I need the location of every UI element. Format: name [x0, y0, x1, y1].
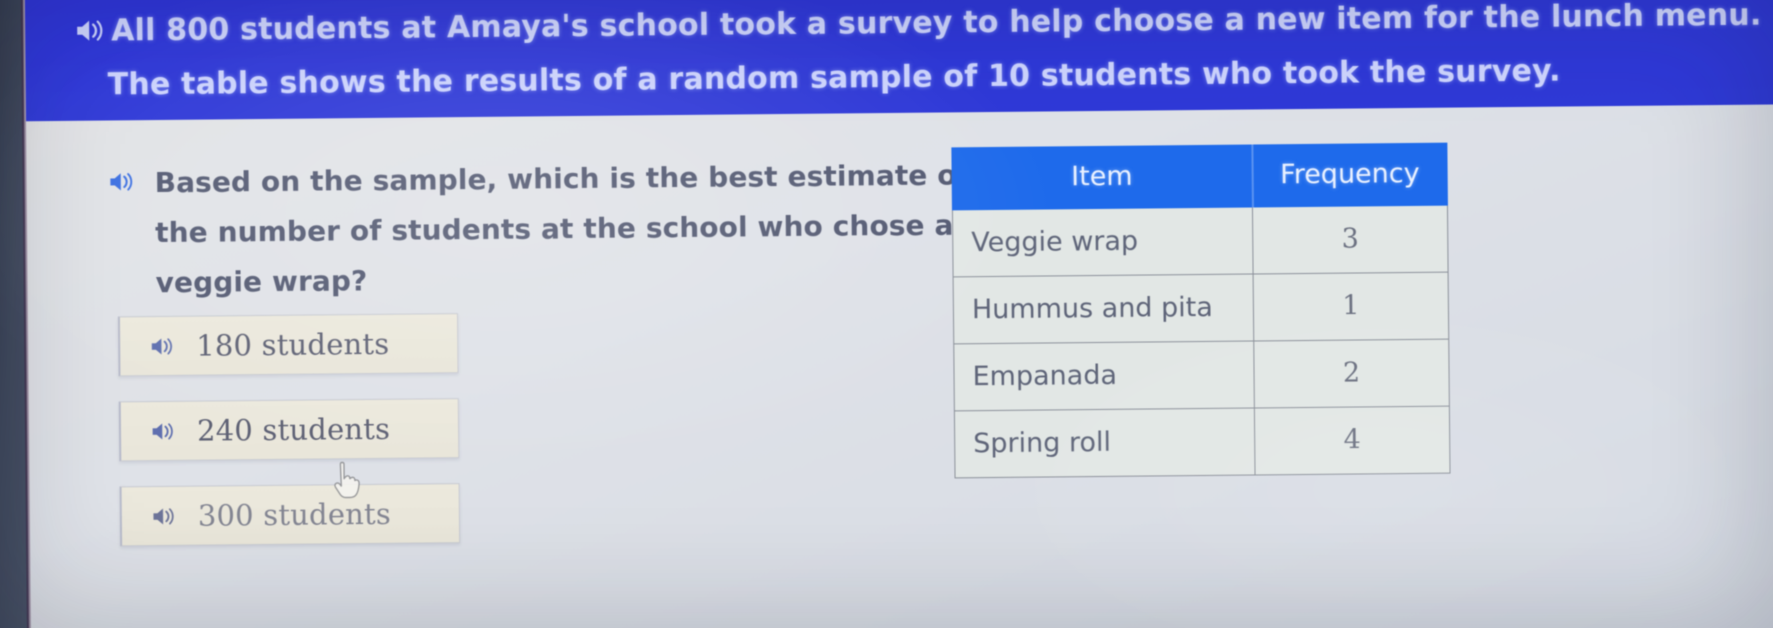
table-row: Spring roll 4 — [954, 406, 1450, 478]
table-cell-item: Empanada — [954, 341, 1255, 411]
question-block: Based on the sample, which is the best e… — [70, 151, 930, 159]
prompt-banner: All 800 students at Amaya's school took … — [25, 0, 1773, 121]
table-cell-frequency: 3 — [1252, 205, 1448, 274]
option-label: 180 students — [196, 327, 389, 363]
answer-options: 180 students 240 students — [118, 313, 460, 571]
speaker-icon[interactable] — [151, 420, 175, 441]
question-text: Based on the sample, which is the best e… — [154, 150, 975, 308]
table-header-row: Item Frequency — [952, 143, 1448, 210]
speaker-icon[interactable] — [75, 18, 105, 44]
table-row: Empanada 2 — [954, 339, 1450, 411]
option-240-students[interactable]: 240 students — [119, 398, 460, 461]
table-cell-item: Spring roll — [954, 408, 1255, 478]
table-row: Veggie wrap 3 — [952, 205, 1448, 277]
speaker-icon[interactable] — [152, 505, 176, 526]
frequency-table: Item Frequency Veggie wrap 3 Hummus and … — [951, 143, 1450, 479]
table-row: Hummus and pita 1 — [953, 272, 1449, 344]
frequency-table-wrap: Item Frequency Veggie wrap 3 Hummus and … — [951, 143, 1449, 479]
table-cell-item: Veggie wrap — [952, 207, 1253, 277]
table-cell-frequency: 1 — [1253, 272, 1449, 341]
speaker-icon[interactable] — [150, 335, 174, 356]
prompt-line-1: All 800 students at Amaya's school took … — [111, 0, 1762, 48]
table-header-frequency: Frequency — [1252, 143, 1448, 207]
quiz-page: All 800 students at Amaya's school took … — [25, 0, 1773, 628]
table-cell-item: Hummus and pita — [953, 274, 1254, 344]
table-cell-frequency: 4 — [1254, 406, 1450, 475]
option-300-students[interactable]: 300 students — [120, 483, 461, 546]
option-180-students[interactable]: 180 students — [118, 313, 459, 376]
option-label: 240 students — [197, 412, 390, 448]
table-header-item: Item — [952, 145, 1253, 210]
screen-photo: All 800 students at Amaya's school took … — [0, 0, 1773, 628]
speaker-icon[interactable] — [109, 170, 135, 193]
option-label: 300 students — [198, 497, 391, 533]
prompt-line-2: The table shows the results of a random … — [108, 54, 1561, 103]
table-cell-frequency: 2 — [1254, 339, 1450, 408]
